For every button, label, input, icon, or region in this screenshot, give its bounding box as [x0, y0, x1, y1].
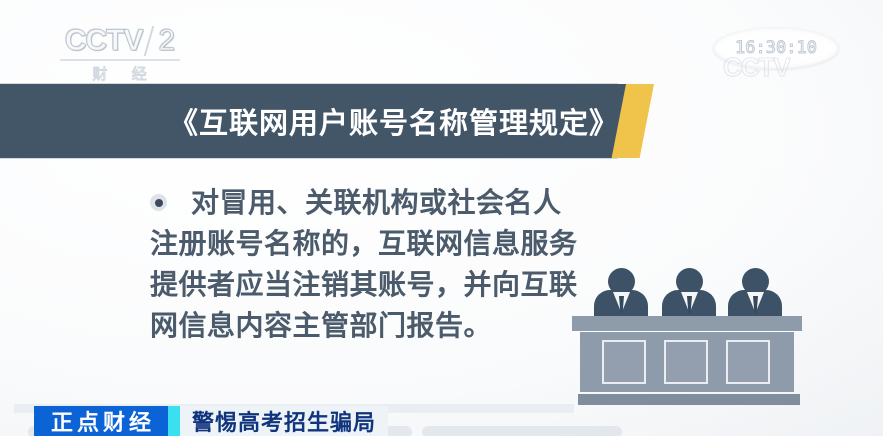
ticker-ghost-pill: [422, 426, 622, 436]
program-name-badge: 正点财经: [34, 406, 168, 436]
banner-separator: [168, 406, 180, 436]
slide-body-line: 网信息内容主管部门报告。: [150, 305, 580, 346]
cctv-logo-row: CCTV 2: [65, 24, 174, 58]
official-figure-icon: [662, 268, 716, 320]
slide-title-text: 《互联网用户账号名称管理规定》: [0, 84, 618, 158]
clock-ghost-watermark: CCTV: [723, 52, 790, 83]
cctv-logo-slash: [144, 26, 155, 56]
slide-body-line: 提供者应当注销其账号，并向互联: [150, 264, 580, 305]
podium-base-rail: [578, 394, 800, 405]
slide-body-line: 对冒用、关联机构或社会名人: [150, 182, 580, 223]
cctv-logo-subtitle: 财 经: [82, 63, 156, 84]
podium-panel: [664, 340, 708, 384]
slide-body-line-text: 对冒用、关联机构或社会名人: [191, 182, 562, 223]
official-figure-icon: [728, 268, 782, 320]
cctv-wordmark: CCTV: [65, 24, 143, 58]
cctv2-channel-logo: CCTV 2 财 经: [52, 24, 187, 84]
cctv-logo-underline: [60, 59, 180, 61]
podium-top-rail: [572, 316, 802, 331]
podium-body: [580, 332, 794, 392]
slide-body-line: 注册账号名称的，互联网信息服务: [150, 223, 580, 264]
lower-third-banner: 正点财经 警惕高考招生骗局: [34, 406, 388, 436]
broadcast-screen: CCTV 2 财 经 16:30:10 CCTV 《互联网用户账号名称管理规定》…: [0, 0, 883, 436]
cctv-channel-number: 2: [158, 24, 174, 58]
slide-title-bar: 《互联网用户账号名称管理规定》: [0, 84, 680, 158]
slide-body: 对冒用、关联机构或社会名人 注册账号名称的，互联网信息服务 提供者应当注销其账号…: [150, 182, 580, 346]
official-figure-icon: [594, 268, 648, 320]
officials-at-podium-illustration: [572, 268, 822, 390]
bullet-dot-icon: [150, 194, 167, 211]
podium-panel: [726, 340, 770, 384]
headline-text: 警惕高考招生骗局: [180, 406, 388, 436]
podium-panel: [602, 340, 646, 384]
slide-body-line-text: 注册账号名称的，互联网信息服务: [150, 223, 578, 264]
slide-body-line-text: 提供者应当注销其账号，并向互联: [150, 264, 578, 305]
slide-body-line-text: 网信息内容主管部门报告。: [150, 305, 492, 346]
